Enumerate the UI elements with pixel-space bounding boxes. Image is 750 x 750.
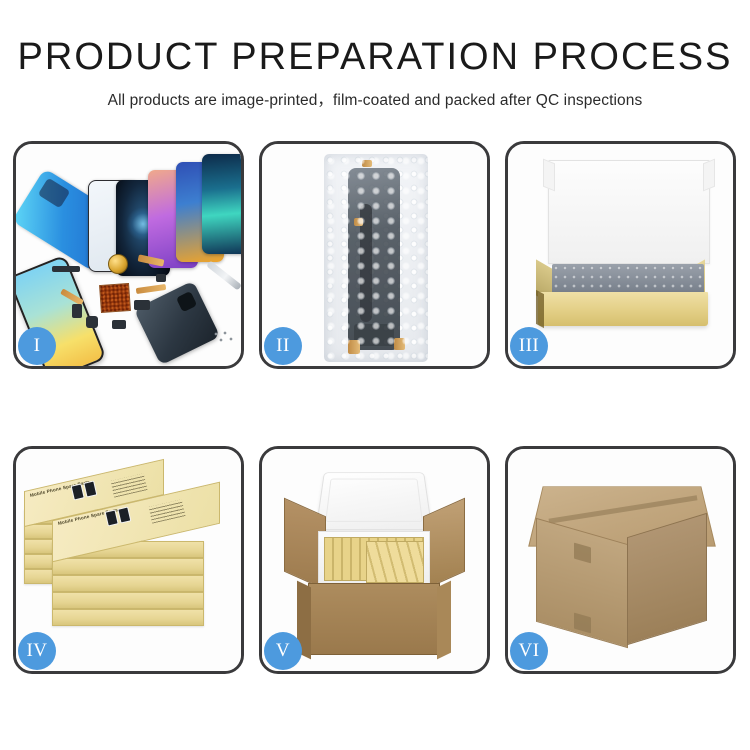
component-5	[72, 304, 82, 318]
step-badge-3: III	[510, 327, 548, 365]
process-step-3: III	[505, 141, 736, 369]
packed-boxes-row-2	[366, 541, 424, 583]
step-badge-5: V	[264, 632, 302, 670]
tweezers-tool	[206, 260, 241, 290]
retail-box	[52, 609, 204, 626]
screws-group	[212, 330, 236, 344]
product-preparation-infographic: PRODUCT PREPARATION PROCESS All products…	[0, 0, 750, 750]
process-step-2: II	[259, 141, 490, 369]
speaker-component	[108, 254, 128, 274]
step-badge-4: IV	[18, 632, 56, 670]
header: PRODUCT PREPARATION PROCESS All products…	[0, 0, 750, 110]
chip-array	[99, 283, 131, 313]
component-2	[134, 300, 150, 310]
phone-screen-teal	[202, 154, 241, 254]
process-step-6: VI	[505, 446, 736, 674]
page-title: PRODUCT PREPARATION PROCESS	[0, 38, 750, 78]
step-badge-6: VI	[510, 632, 548, 670]
step-badge-2: II	[264, 327, 302, 365]
lid-screen-thumb	[71, 483, 85, 500]
component-4	[112, 320, 126, 329]
carton-right-face	[627, 513, 707, 645]
page-subtitle: All products are image-printed，film-coat…	[0, 88, 750, 110]
foam-case-lid	[315, 472, 432, 530]
component-6	[156, 274, 166, 282]
inner-box-front-panel	[538, 292, 708, 326]
process-step-4: Mobile Phone Spare Parts Mobile Phone Sp…	[13, 446, 244, 674]
process-step-1: I	[13, 141, 244, 369]
process-step-5: V	[259, 446, 490, 674]
bubble-wrapped-contents	[552, 264, 704, 294]
retail-box	[52, 558, 204, 575]
white-foam-liner	[548, 160, 710, 264]
retail-box	[52, 575, 204, 592]
flex-cable-2	[136, 284, 167, 294]
component-3	[86, 316, 98, 328]
component-1	[52, 266, 80, 272]
bubble-wrap-bag	[324, 154, 428, 362]
step-badge-1: I	[18, 327, 56, 365]
bubble-texture-overlay	[324, 154, 428, 362]
retail-box	[52, 592, 204, 609]
lid-screen-thumb	[105, 509, 119, 526]
process-step-grid: I II	[13, 141, 737, 674]
disassembled-phone-back	[134, 281, 220, 366]
carton-body	[308, 583, 440, 655]
